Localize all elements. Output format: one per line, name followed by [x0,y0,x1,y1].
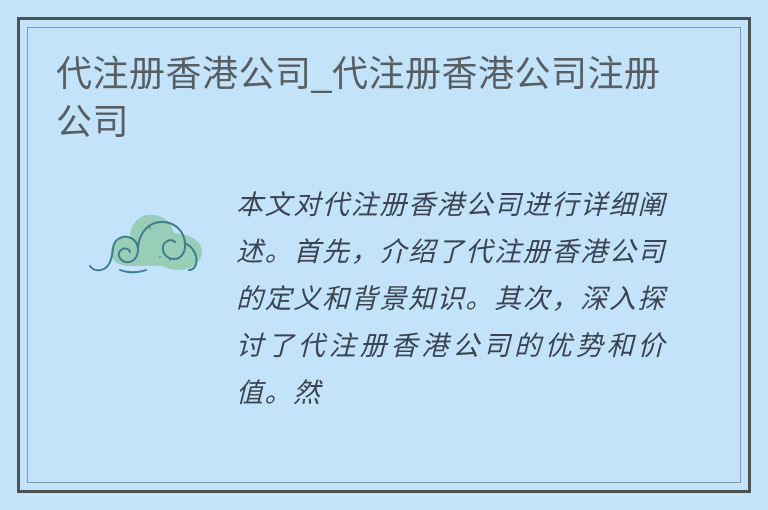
article-body-row: 本文对代注册香港公司进行详细阐述。首先，介绍了代注册香港公司的定义和背景知识。其… [54,182,714,417]
article-card-inner-border: 代注册香港公司_代注册香港公司注册公司 [27,27,741,483]
article-content: 代注册香港公司_代注册香港公司注册公司 [28,28,740,482]
decoration-column [54,182,236,284]
article-card: 代注册香港公司_代注册香港公司注册公司 [17,17,751,493]
page-root: { "page": { "title": "代注册香港公司_代注册香港公司注册公… [0,0,768,510]
page-title: 代注册香港公司_代注册香港公司注册公司 [54,50,696,146]
cloud-swirl-icon [86,200,204,284]
article-summary-text: 本文对代注册香港公司进行详细阐述。首先，介绍了代注册香港公司的定义和背景知识。其… [236,182,666,417]
